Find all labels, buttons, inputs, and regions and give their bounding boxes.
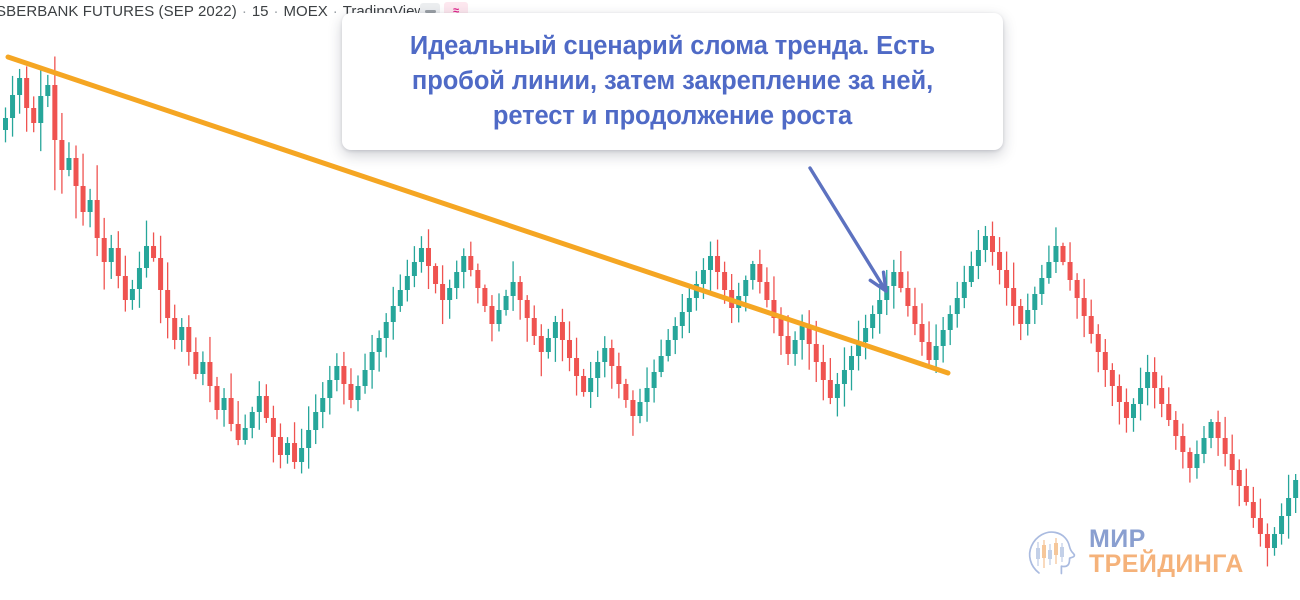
candle-body <box>497 310 502 324</box>
candle-body <box>912 306 917 324</box>
candle-body <box>1138 388 1143 404</box>
candle-body <box>701 270 706 284</box>
candle-body <box>1223 438 1228 454</box>
candle-body <box>377 338 382 352</box>
candle-body <box>200 362 205 374</box>
candle-body <box>74 158 79 186</box>
candle-body <box>1265 534 1270 548</box>
candle-body <box>95 200 100 238</box>
candle-body <box>1124 402 1129 418</box>
candle-body <box>1096 334 1101 352</box>
arrow-shaft <box>810 168 886 291</box>
candle-body <box>398 290 403 306</box>
chart-screenshot: SBERBANK FUTURES (SEP 2022) · 15 · MOEX … <box>0 0 1300 600</box>
symbol-label: SBERBANK FUTURES (SEP 2022) <box>0 3 237 20</box>
candle-body <box>1272 534 1277 548</box>
candle-body <box>1209 422 1214 438</box>
candle-body <box>616 366 621 384</box>
candle-body <box>475 270 480 288</box>
candle-body <box>158 258 163 290</box>
candle-body <box>835 384 840 398</box>
annotation-text: Идеальный сценарий слома тренда. Есть пр… <box>368 29 977 135</box>
candle-body <box>222 398 227 410</box>
candle-body <box>257 396 262 412</box>
candle-body <box>130 289 135 300</box>
candle-body <box>539 336 544 352</box>
candle-body <box>320 398 325 412</box>
candle-body <box>786 336 791 354</box>
candle-body <box>116 248 121 276</box>
candle-body <box>630 400 635 416</box>
candle-body <box>891 272 896 286</box>
candle-body <box>334 366 339 380</box>
candle-body <box>24 78 29 108</box>
candle-body <box>264 396 269 418</box>
watermark-text: МИР ТРЕЙДИНГА <box>1089 527 1244 578</box>
candle-body <box>482 288 487 306</box>
candle-body <box>292 443 297 462</box>
candle-body <box>588 378 593 392</box>
candle-body <box>1258 518 1263 534</box>
arrow-head-icon <box>870 272 886 291</box>
candle-body <box>1187 452 1192 468</box>
candle-body <box>1279 516 1284 534</box>
watermark-line-2: ТРЕЙДИНГА <box>1089 552 1244 578</box>
candle-body <box>461 256 466 272</box>
exchange-label: MOEX <box>284 3 328 20</box>
candle-body <box>553 322 558 338</box>
candle-body <box>384 322 389 338</box>
candle-body <box>1244 486 1249 502</box>
candle-body <box>59 140 64 170</box>
candle-body <box>800 326 805 340</box>
candle-body <box>976 250 981 266</box>
candle-body <box>179 327 184 340</box>
candle-body <box>1103 352 1108 370</box>
candle-body <box>88 200 93 212</box>
candle-body <box>1068 262 1073 280</box>
annotation-arrow <box>810 168 886 291</box>
candle-body <box>722 272 727 290</box>
candle-body <box>1194 454 1199 468</box>
candle-body <box>313 412 318 430</box>
header-separator-2: · <box>269 3 284 20</box>
candle-body <box>1075 280 1080 298</box>
candle-body <box>1159 388 1164 404</box>
candle-body <box>81 186 86 212</box>
candle-body <box>278 437 283 455</box>
candle-body <box>391 306 396 322</box>
candle-body <box>327 380 332 398</box>
candle-body <box>207 362 212 386</box>
candle-body <box>489 306 494 324</box>
candle-body <box>673 326 678 340</box>
candle-body <box>623 384 628 400</box>
candle-body <box>708 256 713 270</box>
candle-body <box>1039 278 1044 294</box>
candle-body <box>1046 262 1051 278</box>
candle-body <box>1145 372 1150 388</box>
candle-body <box>687 298 692 312</box>
candle-body <box>3 118 8 130</box>
candle-body <box>764 282 769 300</box>
candle-body <box>983 236 988 250</box>
candle-body <box>898 272 903 288</box>
candle-body <box>814 344 819 362</box>
candle-body <box>17 78 22 95</box>
candle-body <box>285 443 290 455</box>
candle-body <box>779 318 784 336</box>
candle-body <box>1018 306 1023 324</box>
candle-body <box>1173 420 1178 436</box>
candle-body <box>757 264 762 282</box>
candle-body <box>581 376 586 392</box>
candle-body <box>546 338 551 352</box>
candle-body <box>1202 438 1207 454</box>
interval-label: 15 <box>252 3 269 20</box>
candle-body <box>842 370 847 384</box>
candle-body <box>793 340 798 354</box>
candle-body <box>306 430 311 448</box>
candle-body <box>468 256 473 270</box>
candle-body <box>962 282 967 298</box>
candle-body <box>1251 502 1256 518</box>
candle-body <box>165 290 170 318</box>
candle-body <box>137 268 142 289</box>
candle-body <box>532 318 537 336</box>
brand-watermark: МИР ТРЕЙДИНГА <box>1026 524 1244 580</box>
candle-body <box>193 352 198 374</box>
candle-body <box>941 330 946 346</box>
candle-body <box>454 272 459 288</box>
candle-body <box>426 248 431 266</box>
candle-body <box>186 327 191 352</box>
candle-body <box>877 300 882 314</box>
candle-body <box>412 262 417 276</box>
candle-body <box>341 366 346 384</box>
candle-body <box>1011 288 1016 306</box>
candle-body <box>123 276 128 300</box>
candle-body <box>652 372 657 388</box>
candle-body <box>920 324 925 342</box>
head-candles-logo-icon <box>1026 524 1080 580</box>
candle-body <box>271 418 276 437</box>
header-separator-3: · <box>328 3 343 20</box>
candle-body <box>905 288 910 306</box>
header-separator-1: · <box>237 3 252 20</box>
candle-body <box>934 346 939 360</box>
candle-body <box>560 322 565 340</box>
candle-body <box>299 448 304 462</box>
candle-body <box>172 318 177 340</box>
candle-body <box>215 386 220 410</box>
candle-body <box>243 428 248 440</box>
candle-body <box>1082 298 1087 316</box>
candle-body <box>52 85 57 140</box>
candle-body <box>638 402 643 416</box>
candle-body <box>1230 454 1235 470</box>
candle-body <box>927 342 932 360</box>
candle-body <box>102 238 107 262</box>
candle-body <box>45 85 50 96</box>
candle-body <box>504 296 509 310</box>
candle-body <box>645 388 650 402</box>
candle-body <box>419 248 424 262</box>
candle-body <box>1061 246 1066 262</box>
candle-body <box>1117 386 1122 402</box>
candle-body <box>518 282 523 300</box>
candle-body <box>1293 480 1298 498</box>
candle-body <box>948 314 953 330</box>
candle-body <box>10 95 15 118</box>
candle-body <box>1166 404 1171 420</box>
candle-body <box>1131 404 1136 418</box>
watermark-line-1: МИР <box>1089 527 1244 553</box>
candle-body <box>1216 422 1221 438</box>
candle-body <box>1004 270 1009 288</box>
candle-body <box>743 280 748 296</box>
candle-body <box>1110 370 1115 386</box>
candle-body <box>602 348 607 362</box>
candle-body <box>828 380 833 398</box>
candle-body <box>405 276 410 290</box>
candle-body <box>525 300 530 318</box>
candle-body <box>363 370 368 386</box>
candle-body <box>1025 310 1030 324</box>
candle-body <box>38 96 43 123</box>
candle-body <box>440 284 445 300</box>
candle-body <box>229 398 234 424</box>
candle-body <box>1180 436 1185 452</box>
candle-body <box>609 348 614 366</box>
candle-body <box>236 424 241 440</box>
candle-body <box>870 314 875 328</box>
candle-body <box>969 266 974 282</box>
candle-body <box>595 362 600 378</box>
candle-body <box>666 340 671 356</box>
candle-body <box>1237 470 1242 486</box>
candle-body <box>348 384 353 400</box>
candle-body <box>433 266 438 284</box>
candle-body <box>1286 498 1291 516</box>
candle-body <box>567 340 572 358</box>
candle-body <box>250 412 255 428</box>
candle-body <box>990 236 995 252</box>
candle-body <box>511 282 516 296</box>
candle-body <box>31 108 36 123</box>
candle-body <box>447 288 452 300</box>
candle-body <box>821 362 826 380</box>
candle-body <box>1053 246 1058 262</box>
candle-body <box>1152 372 1157 388</box>
candle-body <box>356 386 361 400</box>
candle-body <box>863 328 868 342</box>
candle-body <box>849 356 854 370</box>
candle-body <box>370 352 375 370</box>
annotation-callout: Идеальный сценарий слома тренда. Есть пр… <box>342 13 1003 150</box>
candle-body <box>750 264 755 280</box>
candle-body <box>955 298 960 314</box>
candle-body <box>144 246 149 268</box>
candle-body <box>997 252 1002 270</box>
candle-body <box>574 358 579 376</box>
candle-body <box>715 256 720 272</box>
candle-body <box>109 248 114 262</box>
candle-body <box>1032 294 1037 310</box>
candle-body <box>66 158 71 170</box>
candle-body <box>151 246 156 258</box>
candle-body <box>1089 316 1094 334</box>
candle-body <box>680 312 685 326</box>
candle-body <box>659 356 664 372</box>
